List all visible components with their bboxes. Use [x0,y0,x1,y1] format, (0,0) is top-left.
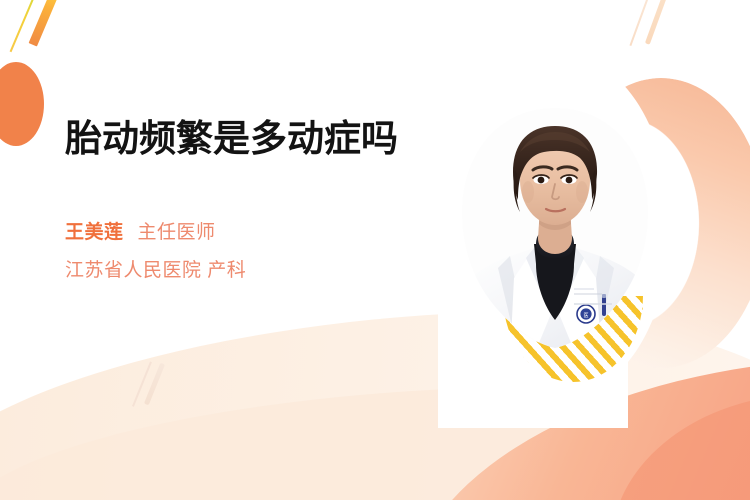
doctor-professional-title: 主任医师 [138,217,216,244]
bottom-left-faint-stripe [144,363,165,406]
text-content-block: 胎动频繁是多动症吗 王美莲 主任医师 江苏省人民医院 产科 [65,118,425,282]
top-left-thick-stripe [29,0,63,47]
doctor-affiliation: 江苏省人民医院 产科 [65,255,425,282]
svg-text:医: 医 [583,313,588,319]
top-right-thick-stripe [645,0,673,45]
top-right-stripe-group [640,0,700,60]
bottom-left-faint-stripe-thin [132,361,151,406]
top-left-thin-stripe [10,0,42,52]
slide-canvas: 医 胎动频繁是多动症吗 王美莲 主任医师 江苏省人民医院 产科 [0,0,750,500]
bottom-right-orange-wave-deep [593,380,750,500]
page-title: 胎动频繁是多动症吗 [65,118,425,159]
doctor-name: 王美莲 [65,217,124,244]
bottom-light-wave-secondary [0,374,750,500]
doctor-byline: 王美莲 主任医师 [65,217,425,244]
top-left-stripe-group [28,0,98,59]
top-right-thin-stripe [629,0,656,46]
top-left-orange-circle [0,62,44,146]
doctor-portrait-photo: 医 [462,108,648,360]
